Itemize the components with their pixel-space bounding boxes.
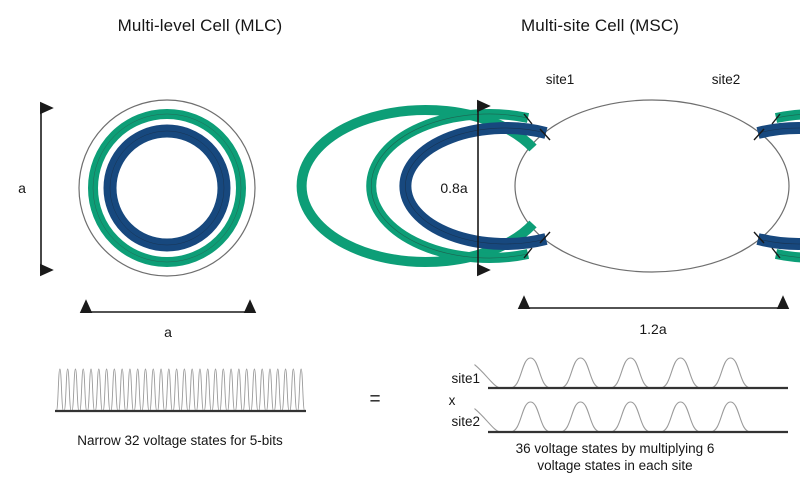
msc-site1-voltage-peak — [511, 358, 551, 388]
mlc-cell-diagram — [0, 0, 400, 360]
msc-site2-blue-ring-edge — [758, 128, 800, 244]
mlc-voltage-peak — [235, 369, 242, 411]
msc-voltage-waveforms — [400, 350, 800, 440]
msc-outer-outline-ellipse — [515, 100, 789, 272]
mlc-voltage-peak — [274, 369, 281, 411]
msc-site2-label: site2 — [688, 72, 764, 87]
mlc-caption: Narrow 32 voltage states for 5-bits — [40, 432, 320, 449]
mlc-voltage-peak — [243, 369, 250, 411]
msc-site1-voltage-peak — [611, 358, 651, 388]
msc-site2-voltage-peak — [511, 402, 551, 432]
mlc-width-label: a — [152, 324, 184, 340]
mlc-voltage-peak — [282, 369, 289, 411]
mlc-voltage-peak — [119, 369, 126, 411]
msc-site1-voltage-peak — [711, 358, 751, 388]
msc-site2-voltage-peak — [611, 402, 651, 432]
mlc-voltage-peak — [220, 369, 227, 411]
msc-height-label: 0.8a — [432, 180, 476, 196]
msc-site2-voltage-peak — [711, 402, 751, 432]
mlc-voltage-peak — [150, 369, 157, 411]
mlc-voltage-peak — [64, 369, 71, 411]
msc-site1-voltage-peak — [661, 358, 701, 388]
mlc-voltage-peak — [165, 369, 172, 411]
mlc-voltage-peak — [103, 369, 110, 411]
msc-site2-voltage-peak — [561, 402, 601, 432]
mlc-voltage-peak — [173, 369, 180, 411]
mlc-height-label: a — [6, 180, 38, 196]
mlc-voltage-waveform — [0, 350, 400, 430]
mlc-voltage-peak — [142, 369, 149, 411]
msc-site1-voltage-peak — [561, 358, 601, 388]
mlc-voltage-peak — [259, 369, 266, 411]
msc-site1-peak-group — [475, 358, 751, 388]
msc-caption-line-2: voltage states in each site — [470, 457, 760, 474]
mlc-voltage-peak — [95, 369, 102, 411]
msc-site2-blue-ring — [758, 128, 800, 244]
msc-site2-teal-ring-edge — [776, 114, 800, 258]
mlc-voltage-peak — [72, 369, 79, 411]
msc-site2-group — [754, 114, 800, 258]
mlc-peak-group — [56, 369, 304, 411]
msc-site2-voltage-peak — [475, 409, 501, 432]
mlc-voltage-peak — [181, 369, 188, 411]
mlc-voltage-peak — [189, 369, 196, 411]
mlc-voltage-peak — [204, 369, 211, 411]
msc-width-label: 1.2a — [631, 321, 675, 337]
mlc-voltage-peak — [212, 369, 219, 411]
mlc-voltage-peak — [228, 369, 235, 411]
mlc-voltage-peak — [251, 369, 258, 411]
mlc-voltage-peak — [298, 369, 305, 411]
mlc-voltage-peak — [80, 369, 87, 411]
figure-canvas: Multi-level Cell (MLC) Multi-site Cell (… — [0, 0, 800, 481]
msc-site1-voltage-peak — [475, 365, 501, 388]
msc-caption-line-1: 36 voltage states by multiplying 6 — [470, 440, 760, 457]
msc-site2-peak-group — [475, 402, 751, 432]
mlc-voltage-peak — [290, 369, 297, 411]
mlc-voltage-peak — [56, 369, 63, 411]
msc-site2-teal-ring — [776, 114, 800, 258]
mlc-voltage-peak — [111, 369, 118, 411]
mlc-blue-ring — [110, 131, 224, 245]
msc-site2-voltage-peak — [661, 402, 701, 432]
mlc-voltage-peak — [134, 369, 141, 411]
mlc-voltage-peak — [87, 369, 94, 411]
msc-site1-label: site1 — [522, 72, 598, 87]
mlc-voltage-peak — [126, 369, 133, 411]
equals-sign: = — [362, 389, 388, 411]
mlc-voltage-peak — [266, 369, 273, 411]
mlc-voltage-peak — [157, 369, 164, 411]
mlc-voltage-peak — [196, 369, 203, 411]
